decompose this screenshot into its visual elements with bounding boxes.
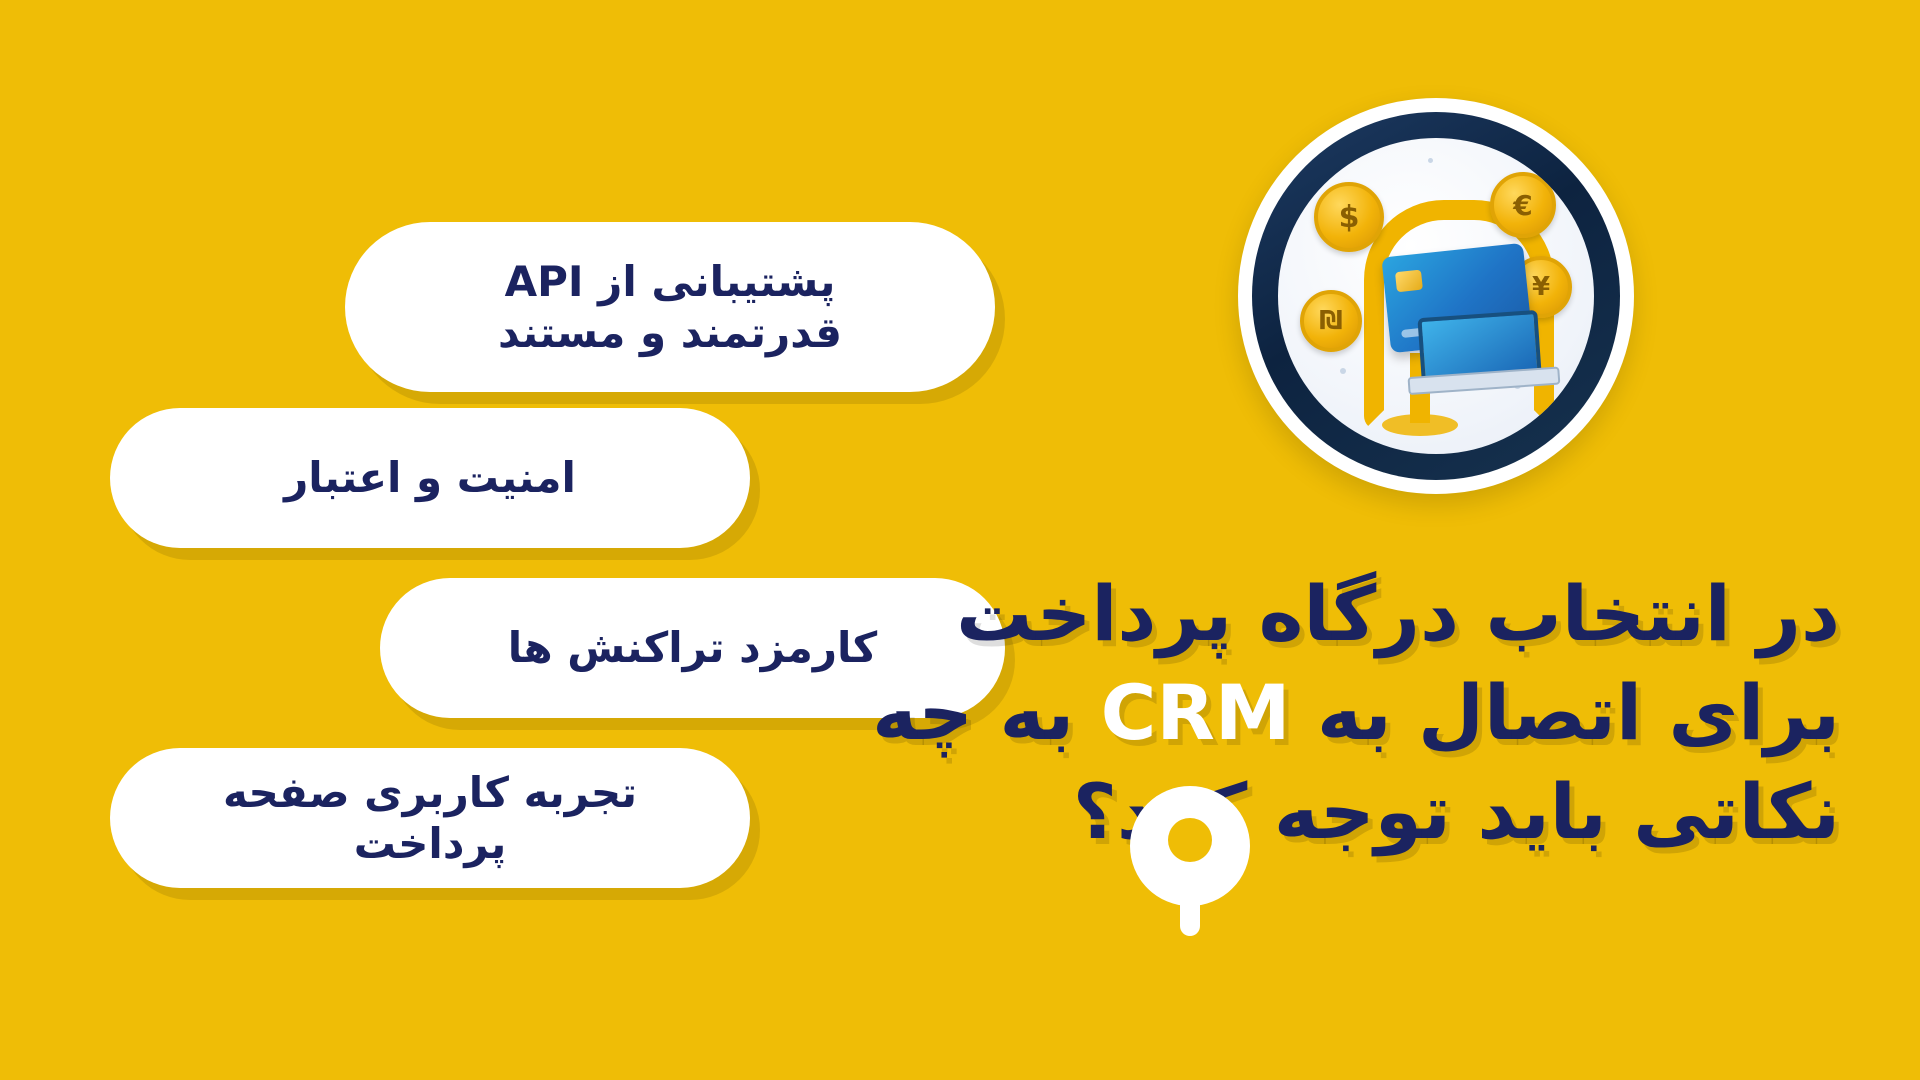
- coin-symbol: ¥: [1532, 272, 1550, 302]
- magnet-base-shadow: [1382, 414, 1458, 436]
- sparkle-icon: [1428, 158, 1433, 163]
- coin-shekel-icon: ₪: [1300, 290, 1362, 352]
- feature-pill-label: تجربه کاربری صفحه پرداخت: [156, 767, 704, 869]
- logo-inner-hole: [1168, 818, 1212, 862]
- logo-stem: [1180, 874, 1200, 936]
- coin-symbol: €: [1513, 189, 1532, 222]
- brand-logo-mark: [1130, 786, 1250, 936]
- feature-pill-label: امنیت و اعتبار: [284, 452, 576, 503]
- coin-dollar-icon: $: [1314, 182, 1384, 252]
- headline-accent-crm: CRM: [1101, 668, 1291, 757]
- headline-line-3: نکاتی باید توجه کرد؟: [810, 763, 1840, 862]
- coin-symbol: $: [1339, 200, 1360, 235]
- headline-line-2-after: به چه: [872, 668, 1100, 757]
- card-chip-icon: [1395, 270, 1423, 293]
- coin-euro-icon: €: [1490, 172, 1556, 238]
- headline-line-1: در انتخاب درگاه پرداخت: [810, 565, 1840, 664]
- feature-pill-api-support[interactable]: پشتیبانی از API قدرتمند و مستند: [345, 222, 995, 392]
- headline-line-2-before: برای اتصال به: [1291, 668, 1840, 757]
- headline-line-2: برای اتصال به CRM به چه: [810, 664, 1840, 763]
- sparkle-icon: [1340, 368, 1346, 374]
- feature-pill-security[interactable]: امنیت و اعتبار: [110, 408, 750, 548]
- laptop-icon: [1403, 309, 1556, 397]
- feature-pill-label: پشتیبانی از API قدرتمند و مستند: [498, 256, 842, 358]
- banner-canvas: پشتیبانی از API قدرتمند و مستند امنیت و …: [0, 0, 1920, 1080]
- illustration-scene: $ € ₪ ¥: [1278, 138, 1594, 454]
- feature-pill-payment-ux[interactable]: تجربه کاربری صفحه پرداخت: [110, 748, 750, 888]
- coin-symbol: ₪: [1319, 306, 1343, 336]
- page-title: در انتخاب درگاه پرداخت برای اتصال به CRM…: [810, 565, 1840, 861]
- sparkle-icon: [1318, 174, 1325, 181]
- payment-magnet-illustration: $ € ₪ ¥: [1238, 98, 1634, 494]
